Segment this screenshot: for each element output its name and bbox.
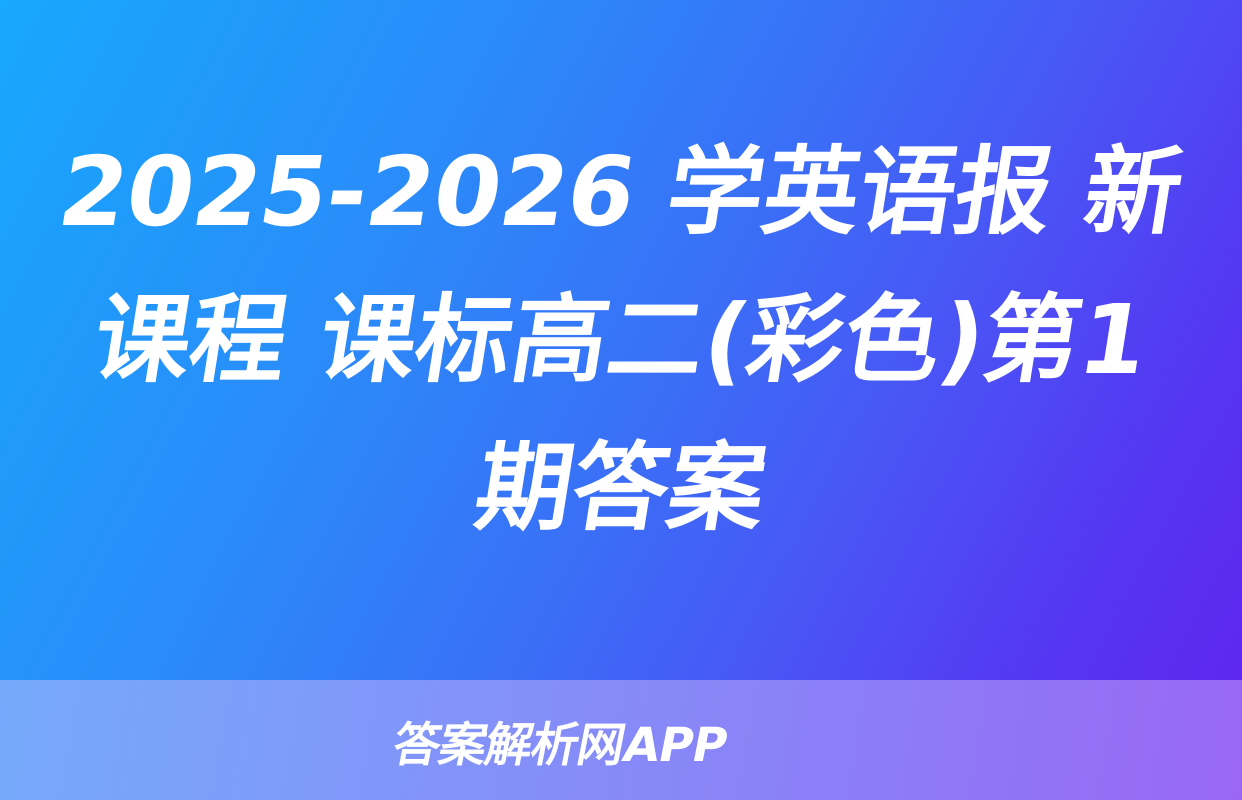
title-block: 2025-2026 学英语报 新 课程 课标高二(彩色)第1 期答案 [0,0,1242,680]
page-title-line-3: 期答案 [34,414,1207,562]
page-title-line-1: 2025-2026 学英语报 新 [34,118,1207,266]
page-title-line-2: 课程 课标高二(彩色)第1 [34,266,1207,414]
answer-cover-banner: 2025-2026 学英语报 新 课程 课标高二(彩色)第1 期答案 答案解析网… [0,0,1242,800]
watermark-band: 答案解析网APP [0,680,1242,800]
watermark-label: 答案解析网APP [0,680,1242,800]
